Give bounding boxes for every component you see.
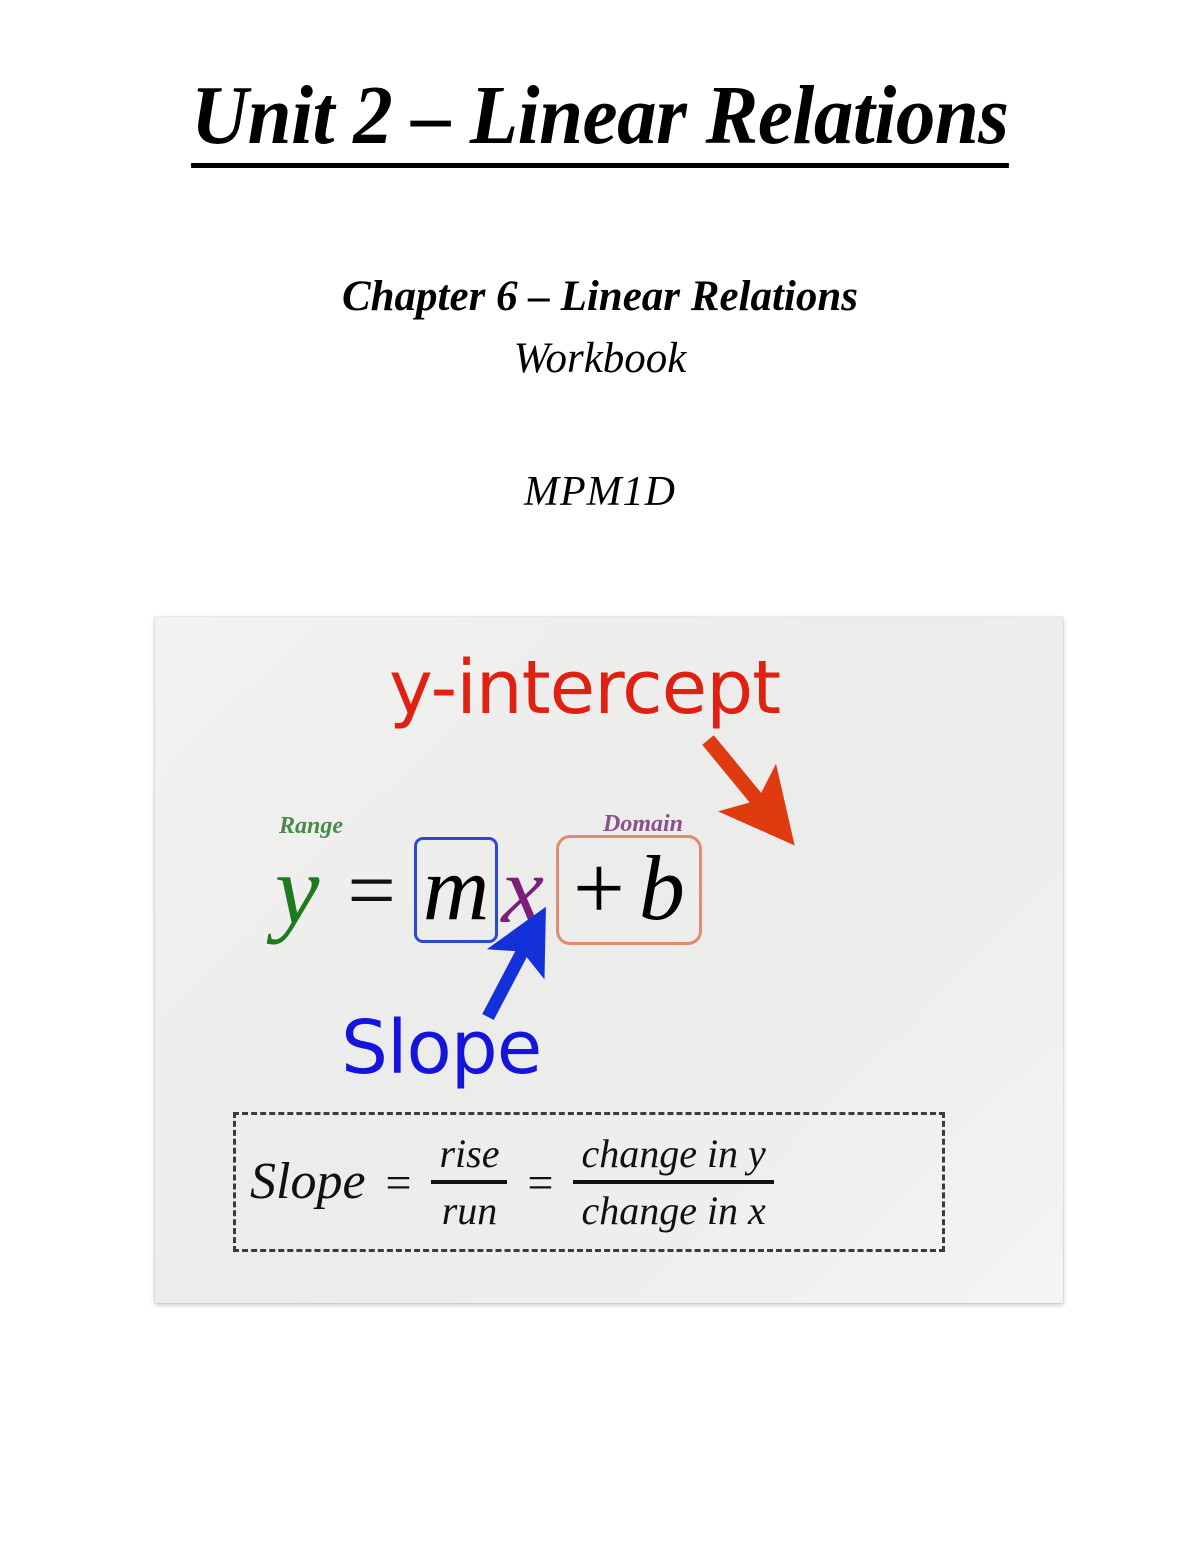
rise-over-run-fraction: rise run bbox=[431, 1132, 507, 1232]
equation-plus-sign: + bbox=[573, 846, 625, 931]
equation-x-variable: x bbox=[498, 842, 556, 938]
change-in-y-numerator: change in y bbox=[573, 1132, 773, 1175]
slope-formula-word: Slope bbox=[250, 1156, 366, 1208]
slope-formula-equals-2: = bbox=[507, 1156, 573, 1209]
run-denominator: run bbox=[434, 1189, 506, 1232]
fraction-bar-2 bbox=[573, 1180, 773, 1184]
slope-highlight-box: m bbox=[414, 837, 498, 943]
fraction-bar-1 bbox=[431, 1180, 507, 1184]
course-code: MPM1D bbox=[0, 468, 1200, 516]
y-intercept-highlight-box: + b bbox=[556, 835, 702, 945]
rise-numerator: rise bbox=[431, 1132, 507, 1175]
domain-annotation-label: Domain bbox=[603, 811, 683, 838]
chapter-heading: Chapter 6 – Linear Relations bbox=[0, 272, 1200, 321]
figure-content-layer: y-intercept Slope Range Domain y = m x +… bbox=[155, 617, 1063, 1303]
change-in-y-over-change-in-x-fraction: change in y change in x bbox=[573, 1132, 773, 1232]
slope-intercept-figure: y-intercept Slope Range Domain y = m x +… bbox=[155, 617, 1063, 1303]
slope-formula-box: Slope = rise run = change in y change in… bbox=[233, 1112, 945, 1252]
page-title-text: Unit 2 – Linear Relations bbox=[191, 74, 1008, 168]
equation-equals-sign: = bbox=[325, 847, 414, 933]
y-intercept-callout-label: y-intercept bbox=[389, 645, 780, 731]
slope-callout-label: Slope bbox=[341, 1005, 541, 1091]
slope-formula-equals-1: = bbox=[366, 1156, 432, 1209]
document-page: Unit 2 – Linear Relations Chapter 6 – Li… bbox=[0, 0, 1200, 1553]
subtitle-workbook: Workbook bbox=[0, 334, 1200, 383]
change-in-x-denominator: change in x bbox=[573, 1189, 773, 1232]
slope-intercept-equation: y = m x + b bbox=[275, 835, 702, 945]
equation-m-variable: m bbox=[423, 837, 489, 939]
equation-y-variable: y bbox=[275, 840, 325, 940]
equation-b-variable: b bbox=[639, 842, 685, 934]
y-intercept-arrow bbox=[708, 740, 768, 813]
page-title: Unit 2 – Linear Relations bbox=[0, 74, 1200, 168]
